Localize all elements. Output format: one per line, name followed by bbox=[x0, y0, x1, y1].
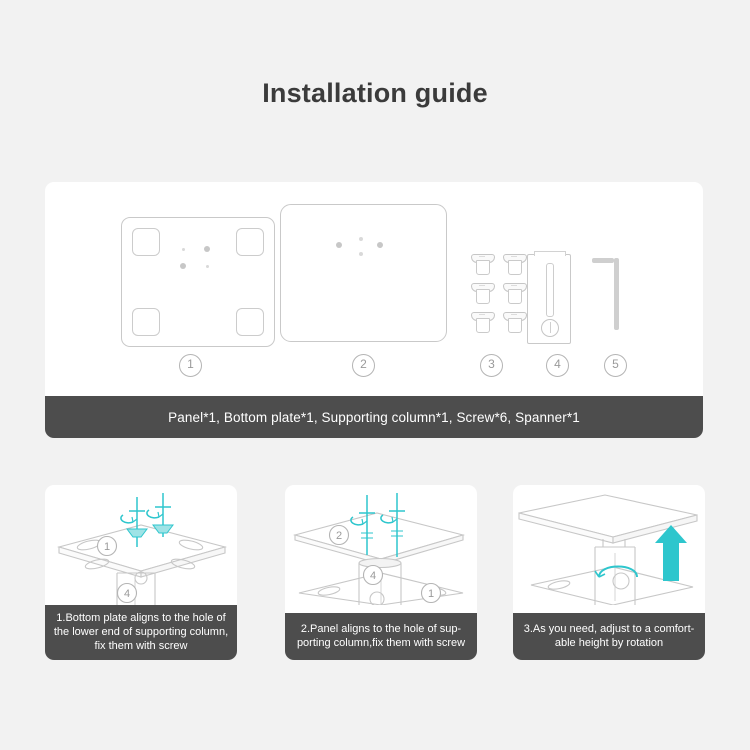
part-screws bbox=[471, 254, 533, 346]
parts-badge-3: 3 bbox=[480, 354, 503, 377]
plate-hole-a bbox=[182, 248, 185, 251]
spanner-long-arm bbox=[614, 258, 619, 330]
plate-hole-d bbox=[206, 265, 209, 268]
part-spanner bbox=[592, 258, 619, 335]
panel-hole-a bbox=[336, 242, 342, 248]
installation-guide-page: Installation guide bbox=[0, 0, 750, 750]
svg-text:4: 4 bbox=[370, 570, 376, 582]
plate-pad-top-right bbox=[236, 228, 264, 256]
part-panel bbox=[280, 204, 447, 342]
screw bbox=[471, 254, 493, 274]
plate-hole-b bbox=[204, 246, 210, 252]
parts-badge-2: 2 bbox=[352, 354, 375, 377]
step-card-3: 3.As you need, adjust to a comfort-able … bbox=[513, 485, 705, 660]
parts-badge-5: 5 bbox=[604, 354, 627, 377]
bom-text: Panel*1, Bottom plate*1, Supporting colu… bbox=[168, 410, 580, 425]
steps-row: 1 4 1.Bottom plate aligns to the hole of… bbox=[45, 485, 705, 660]
panel-hole-c bbox=[377, 242, 383, 248]
svg-text:1: 1 bbox=[104, 541, 110, 553]
svg-text:2: 2 bbox=[336, 530, 342, 542]
bom-bar: Panel*1, Bottom plate*1, Supporting colu… bbox=[45, 396, 703, 438]
plate-pad-bottom-left bbox=[132, 308, 160, 336]
column-cap bbox=[534, 251, 566, 256]
step-1-illustration: 1 4 bbox=[45, 485, 237, 605]
plate-hole-c bbox=[180, 263, 186, 269]
spanner-short-arm bbox=[592, 258, 614, 263]
plate-pad-top-left bbox=[132, 228, 160, 256]
screw bbox=[471, 283, 493, 303]
screw bbox=[503, 312, 525, 332]
screw bbox=[503, 254, 525, 274]
screw bbox=[471, 312, 493, 332]
step-3-illustration bbox=[513, 485, 705, 605]
step-2-illustration: 2 4 1 bbox=[285, 485, 477, 605]
screw bbox=[503, 283, 525, 303]
column-slot bbox=[546, 263, 554, 317]
parts-illustration: 1 2 3 4 5 bbox=[45, 182, 703, 385]
part-bottom-plate bbox=[121, 217, 275, 347]
part-supporting-column bbox=[527, 254, 571, 344]
plate-pad-bottom-right bbox=[236, 308, 264, 336]
step-1-caption: 1.Bottom plate aligns to the hole of the… bbox=[45, 605, 237, 660]
svg-text:4: 4 bbox=[124, 588, 130, 600]
column-knob bbox=[541, 319, 559, 337]
step-card-1: 1 4 1.Bottom plate aligns to the hole of… bbox=[45, 485, 237, 660]
parts-card: 1 2 3 4 5 Panel*1, Bottom plate*1, Suppo… bbox=[45, 182, 703, 438]
panel-hole-b bbox=[359, 237, 363, 241]
page-title: Installation guide bbox=[0, 78, 750, 109]
step-2-caption: 2.Panel aligns to the hole of sup-portin… bbox=[285, 613, 477, 660]
step-3-caption: 3.As you need, adjust to a comfort-able … bbox=[513, 613, 705, 660]
svg-text:1: 1 bbox=[428, 588, 434, 600]
parts-badge-4: 4 bbox=[546, 354, 569, 377]
parts-badge-1: 1 bbox=[179, 354, 202, 377]
step-card-2: 2 4 1 2.Panel aligns to the hole of sup-… bbox=[285, 485, 477, 660]
panel-hole-d bbox=[359, 252, 363, 256]
